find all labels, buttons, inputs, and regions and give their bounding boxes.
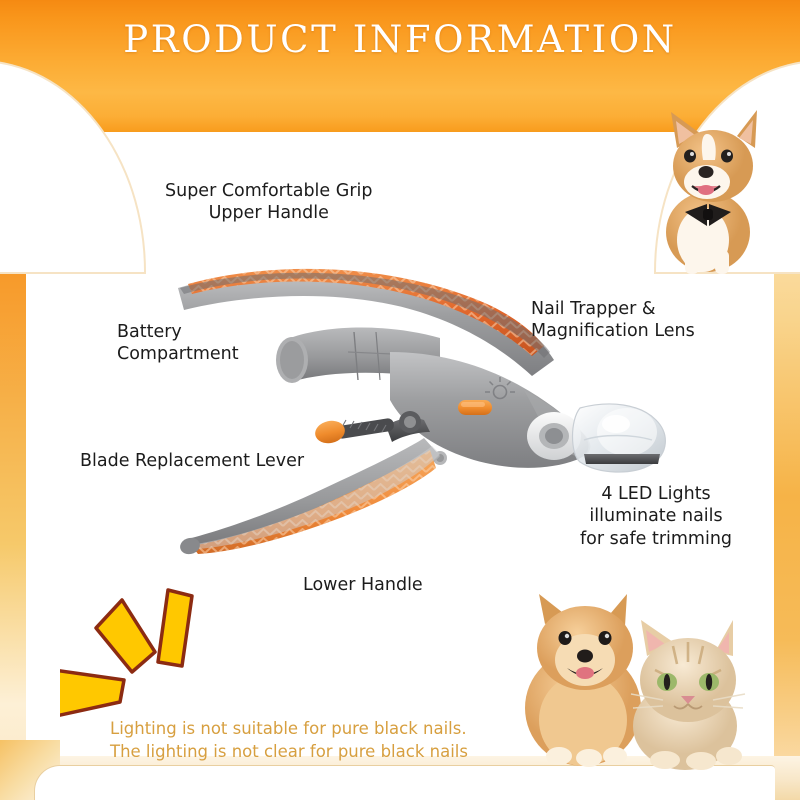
callout-lower-handle: Lower Handle <box>303 574 423 596</box>
pomeranian-and-cat-photo <box>505 580 775 780</box>
lever-knob <box>313 418 347 446</box>
burst-triangle-2 <box>158 590 192 666</box>
page-title: PRODUCT INFORMATION <box>0 18 800 61</box>
black-nails-warning-text: Lighting is not suitable for pure black … <box>110 718 468 764</box>
callout-battery: Battery Compartment <box>117 321 239 366</box>
magnification-lens <box>573 404 666 472</box>
blade-replacement-lever <box>313 411 430 446</box>
callout-upper-handle: Super Comfortable Grip Upper Handle <box>165 180 372 225</box>
cat <box>631 620 745 770</box>
product-information-infographic: PRODUCT INFORMATION <box>0 0 800 800</box>
pomeranian <box>525 594 641 767</box>
yellow-burst-icon <box>60 580 210 720</box>
burst-triangle-1 <box>96 600 155 672</box>
blade-slot <box>584 454 660 464</box>
callout-blade-lever: Blade Replacement Lever <box>80 450 304 472</box>
callout-led-lights: 4 LED Lights illuminate nails for safe t… <box>580 483 732 550</box>
burst-triangle-3 <box>60 670 124 716</box>
callout-nail-trapper: Nail Trapper & Magnification Lens <box>531 298 695 343</box>
